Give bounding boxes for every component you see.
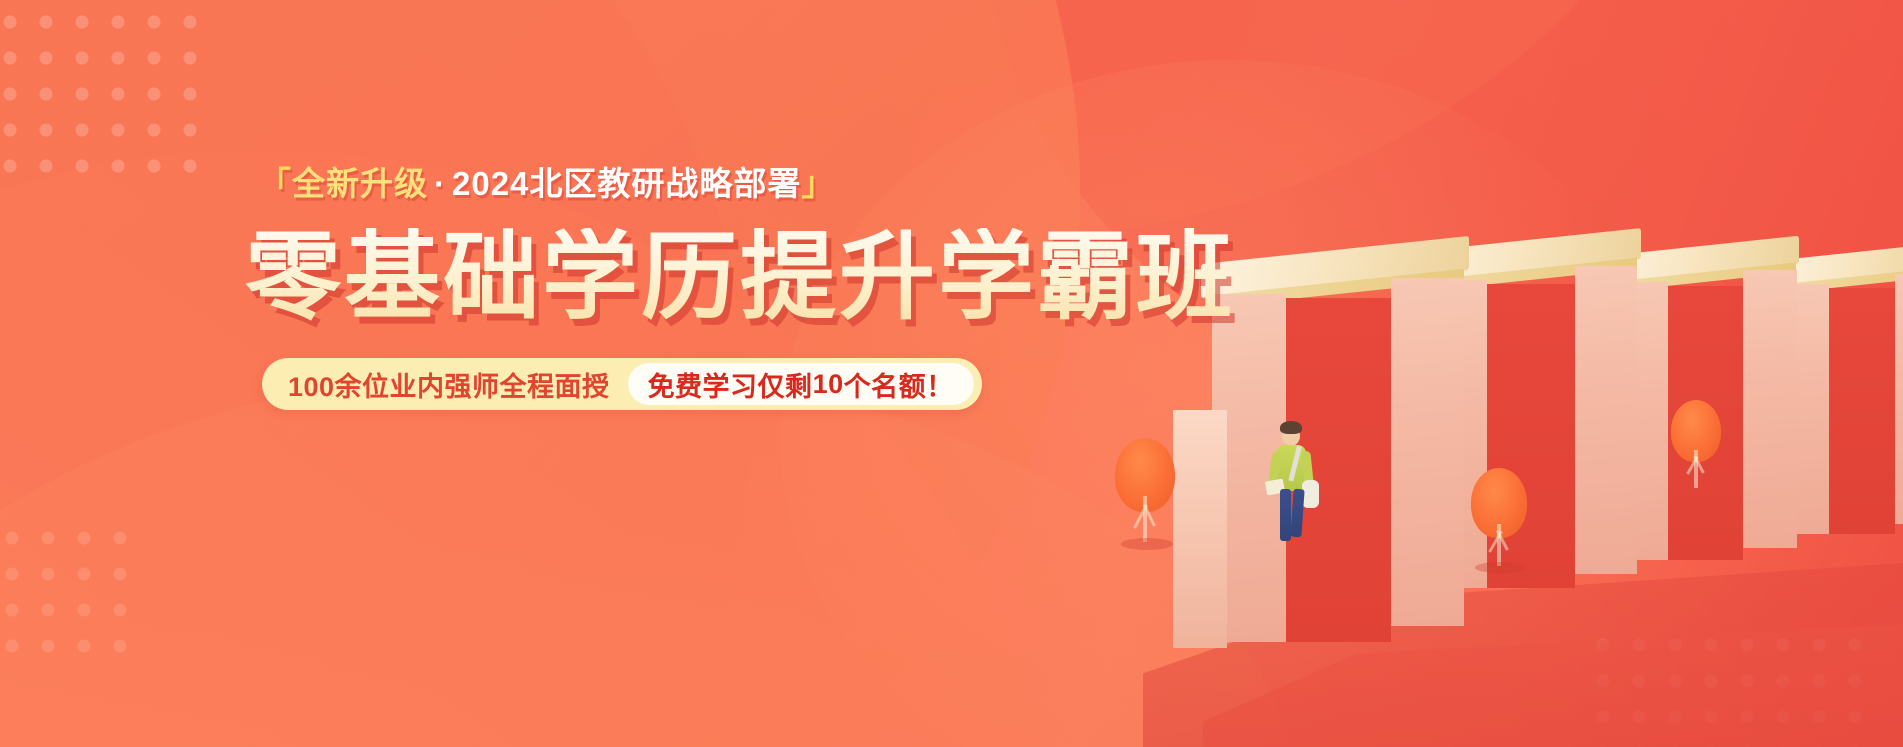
banner-headline: 零基础学历提升学霸班	[245, 228, 1235, 329]
student-hair	[1280, 421, 1302, 434]
student-figure	[1261, 418, 1331, 548]
banner-subtitle: 「全新升级·2024北区教研战略部署」	[258, 157, 835, 205]
student-leg-right	[1290, 489, 1304, 538]
banner-badge: 100余位业内强师全程面授 免费学习仅剩10个名额！	[262, 358, 982, 410]
tree-mid-shadow	[1475, 562, 1525, 573]
arch-4-doorway	[1829, 288, 1895, 534]
badge-pill-prefix: 免费学习仅剩	[648, 365, 813, 404]
arch-2-right-leg	[1575, 266, 1637, 574]
arch-monument-1	[1201, 250, 1491, 650]
arch-1-right-leg	[1391, 278, 1464, 626]
badge-left-text: 100余位业内强师全程面授	[288, 365, 628, 404]
badge-pill-number: 10	[813, 369, 844, 400]
campus-illustration	[1143, 0, 1903, 747]
arch-3-right-leg	[1743, 270, 1797, 548]
tree-left-shadow	[1121, 538, 1173, 550]
promo-banner: 「全新升级·2024北区教研战略部署」 零基础学历提升学霸班 100余位业内强师…	[0, 0, 1903, 747]
banner-text-block: 「全新升级·2024北区教研战略部署」 零基础学历提升学霸班 100余位业内强师…	[0, 0, 1100, 747]
arch-4-right-leg	[1895, 274, 1903, 524]
badge-pill-suffix: 个名额！	[844, 365, 954, 404]
subtitle-highlight: 全新升级	[292, 165, 428, 202]
subtitle-rest: 2024北区教研战略部署	[452, 165, 801, 202]
tree-right	[1663, 400, 1733, 510]
student-leg-left	[1280, 489, 1291, 541]
student-bag	[1302, 480, 1319, 508]
tree-mid	[1461, 468, 1541, 588]
subtitle-separator: ·	[428, 165, 452, 202]
badge-offer-pill[interactable]: 免费学习仅剩10个名额！	[628, 363, 974, 405]
subtitle-open-bracket: 「	[258, 165, 292, 202]
subtitle-close-bracket: 」	[801, 165, 835, 202]
tree-left	[1105, 438, 1185, 558]
